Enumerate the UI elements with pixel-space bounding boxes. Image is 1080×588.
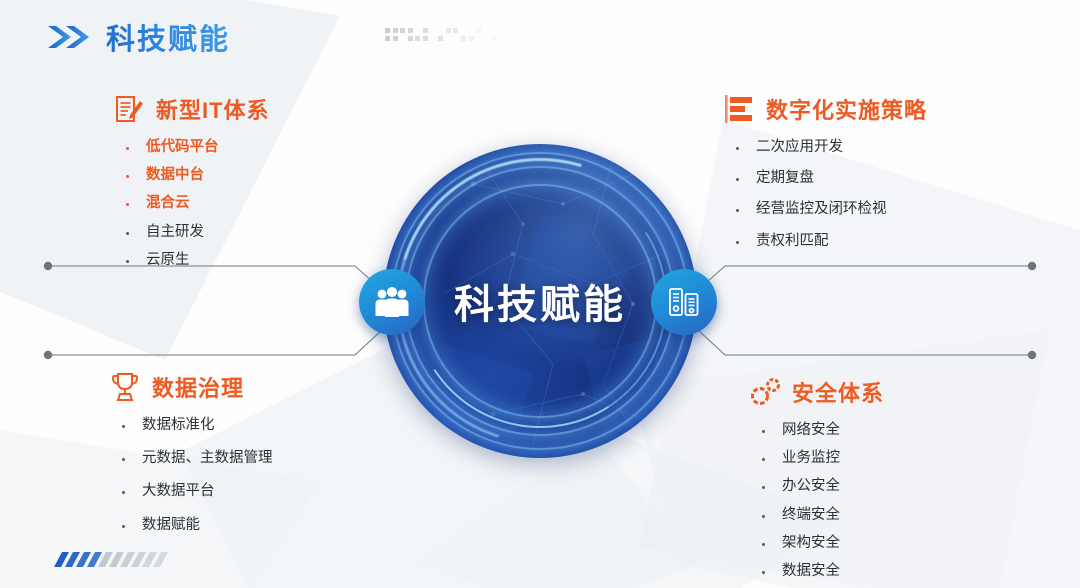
people-group-icon <box>374 286 410 318</box>
slide-header: 科技赋能 <box>46 16 230 58</box>
block-header: 数字化实施策略 <box>722 92 927 126</box>
block-title: 数字化实施策略 <box>766 93 927 125</box>
block-header: 新型IT体系 <box>112 92 270 126</box>
slide-root: 科技赋能 <box>0 0 1080 588</box>
center-hub-sphere: 科技赋能 <box>383 144 697 458</box>
decorative-stripes <box>58 552 188 568</box>
list-item: 经营监控及闭环检视 <box>722 202 927 217</box>
list-item: 元数据、主数据管理 <box>108 451 273 466</box>
list-item: 数据安全 <box>748 564 884 579</box>
list-item: 数据中台 <box>112 168 270 183</box>
hub-node-servers[interactable] <box>651 269 717 335</box>
list-item: 混合云 <box>112 196 270 211</box>
block-item-list: 低代码平台数据中台混合云自主研发云原生 <box>112 140 270 268</box>
list-item: 架构安全 <box>748 536 884 551</box>
decorative-dot-grid <box>385 28 505 48</box>
block-data-governance: 数据治理 数据标准化元数据、主数据管理大数据平台数据赋能 <box>108 370 273 551</box>
list-item: 终端安全 <box>748 508 884 523</box>
block-item-list: 二次应用开发定期复盘经营监控及闭环检视责权利匹配 <box>722 140 927 249</box>
block-title: 数据治理 <box>152 371 244 403</box>
list-item: 低代码平台 <box>112 140 270 155</box>
trophy-icon <box>108 370 142 404</box>
list-item: 定期复盘 <box>722 171 927 186</box>
block-new-it-system: 新型IT体系 低代码平台数据中台混合云自主研发云原生 <box>112 92 270 281</box>
servers-icon <box>667 285 701 319</box>
list-item: 网络安全 <box>748 423 884 438</box>
block-header: 安全体系 <box>748 375 884 409</box>
gears-icon <box>748 375 782 409</box>
page-title: 科技赋能 <box>106 16 230 58</box>
list-item: 办公安全 <box>748 479 884 494</box>
bar-list-icon <box>722 92 756 126</box>
list-item: 业务监控 <box>748 451 884 466</box>
list-item: 自主研发 <box>112 225 270 240</box>
block-digital-strategy: 数字化实施策略 二次应用开发定期复盘经营监控及闭环检视责权利匹配 <box>722 92 927 265</box>
block-security-system: 安全体系 网络安全业务监控办公安全终端安全架构安全数据安全 <box>748 375 884 588</box>
double-chevron-right-icon <box>46 24 92 50</box>
list-item: 数据赋能 <box>108 518 273 533</box>
list-item: 责权利匹配 <box>722 234 927 249</box>
list-item: 二次应用开发 <box>722 140 927 155</box>
block-header: 数据治理 <box>108 370 273 404</box>
block-item-list: 网络安全业务监控办公安全终端安全架构安全数据安全 <box>748 423 884 579</box>
block-title: 新型IT体系 <box>156 93 270 125</box>
hub-node-people[interactable] <box>359 269 425 335</box>
list-item: 云原生 <box>112 253 270 268</box>
block-item-list: 数据标准化元数据、主数据管理大数据平台数据赋能 <box>108 418 273 533</box>
hub-label: 科技赋能 <box>383 272 697 330</box>
list-item: 数据标准化 <box>108 418 273 433</box>
list-item: 大数据平台 <box>108 484 273 499</box>
document-pencil-icon <box>112 92 146 126</box>
block-title: 安全体系 <box>792 376 884 408</box>
